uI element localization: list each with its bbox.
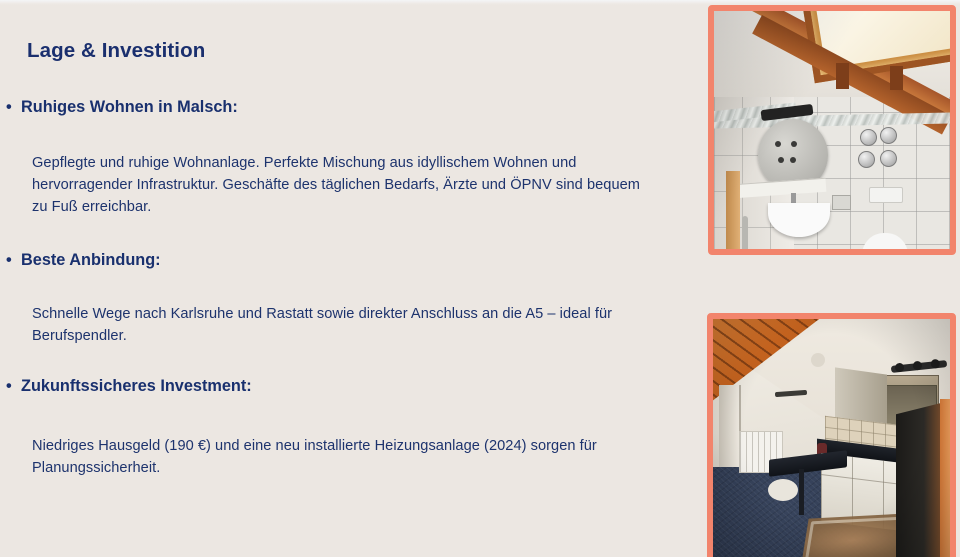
section-zukunftssicheres-investment: • Zukunftssicheres Investment: Niedriges… (0, 377, 700, 396)
mirror-reflection-dot (791, 141, 797, 147)
page-title: Lage & Investition (27, 39, 205, 63)
roof-support-1 (836, 63, 849, 89)
section-ruhiges-wohnen: • Ruhiges Wohnen in Malsch: Gepflegte un… (0, 98, 700, 117)
content-column: Lage & Investition • Ruhiges Wohnen in M… (0, 0, 700, 557)
bullet-icon: • (6, 251, 12, 270)
window-recess (719, 385, 741, 471)
shower-valve-3 (858, 151, 875, 168)
section-body-1: Gepflegte und ruhige Wohnanlage. Perfekt… (32, 152, 657, 219)
section-body-2: Schnelle Wege nach Karlsruhe und Rastatt… (32, 303, 667, 347)
slide-root: Lage & Investition • Ruhiges Wohnen in M… (0, 0, 960, 557)
section-body-3: Niedriges Hausgeld (190 €) und eine neu … (32, 435, 657, 479)
kitchen-photo (707, 313, 956, 557)
section-heading-2: • Beste Anbindung: (0, 251, 700, 270)
track-light-head (895, 363, 905, 373)
track-light-head (930, 359, 940, 369)
stool (768, 479, 798, 501)
kitchen-photo-image (713, 319, 950, 557)
bathroom-photo-image (714, 11, 950, 249)
shower-valve-2 (880, 127, 897, 144)
wall-shelf (832, 195, 851, 210)
ceiling-fixture (811, 353, 825, 367)
mirror-reflection-dot (775, 141, 781, 147)
section-heading-3: • Zukunftssicheres Investment: (0, 377, 700, 396)
section-heading-label-3: Zukunftssicheres Investment: (21, 377, 252, 395)
mirror-reflection-dot (778, 157, 784, 163)
track-light-head (912, 361, 922, 371)
shower-valve-1 (860, 129, 877, 146)
toilet-flush-plate (869, 187, 903, 203)
shower-valve-4 (880, 150, 897, 167)
section-heading-1: • Ruhiges Wohnen in Malsch: (0, 98, 700, 117)
wood-door-frame (726, 171, 740, 249)
section-beste-anbindung: • Beste Anbindung: Schnelle Wege nach Ka… (0, 251, 700, 270)
bullet-icon: • (6, 377, 12, 396)
wall-pipe (742, 216, 748, 249)
bathroom-photo (708, 5, 956, 255)
table-leg (799, 469, 804, 515)
bullet-icon: • (6, 98, 12, 117)
section-heading-label-1: Ruhiges Wohnen in Malsch: (21, 98, 238, 116)
mirror-reflection-dot (790, 157, 796, 163)
door-edge-highlight (940, 399, 950, 557)
section-heading-label-2: Beste Anbindung: (21, 251, 161, 269)
roof-support-2 (890, 66, 903, 90)
